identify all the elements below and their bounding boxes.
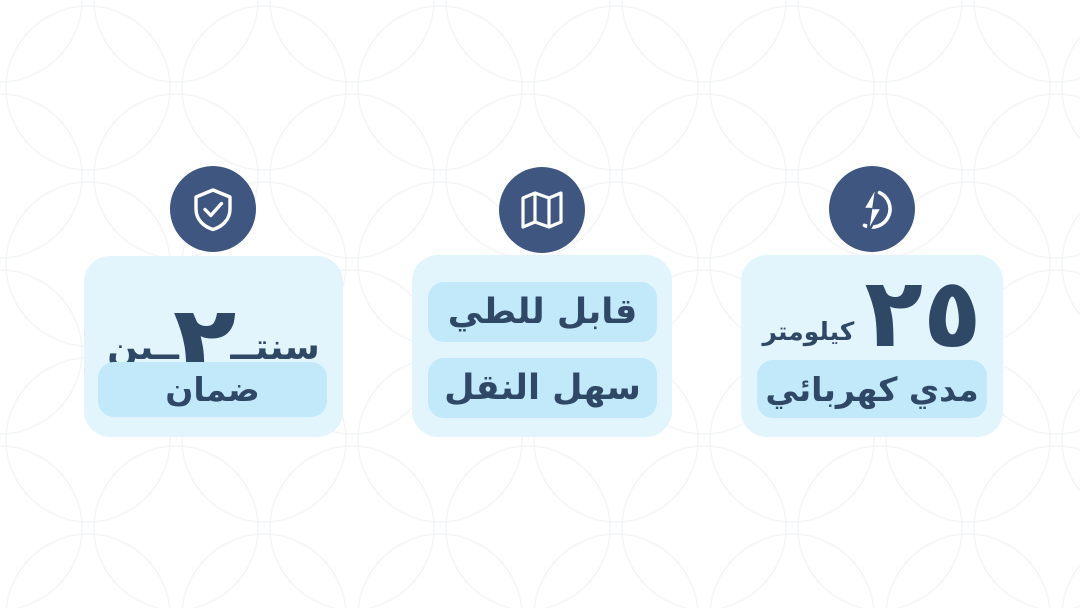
chip-foldable-primary-label: قابل للطي [448,292,638,332]
chip-warranty[interactable]: ضمان [98,362,327,417]
warranty-headline: سنتــ٢ــين [84,282,343,368]
chip-foldable-secondary-label: سهل النقل [444,368,641,408]
lightning-bolt-circle-icon [829,166,915,252]
folded-map-icon [499,167,585,253]
electric-range-unit: كيلومتر [762,319,854,344]
electric-range-metric: ٢٥ كيلومتر [741,268,1003,348]
chip-electric-range-label: مدي كهربائي [765,370,978,409]
chip-foldable-primary[interactable]: قابل للطي [428,282,657,342]
shield-check-icon [170,166,256,252]
features-strip: سنتــ٢ــين ضمان قابل للطي سهل النقل ٢٥ ك… [0,0,1080,608]
electric-range-value: ٢٥ [864,268,981,359]
chip-foldable-secondary[interactable]: سهل النقل [428,358,657,418]
chip-electric-range[interactable]: مدي كهربائي [757,360,987,418]
chip-warranty-label: ضمان [165,370,260,409]
